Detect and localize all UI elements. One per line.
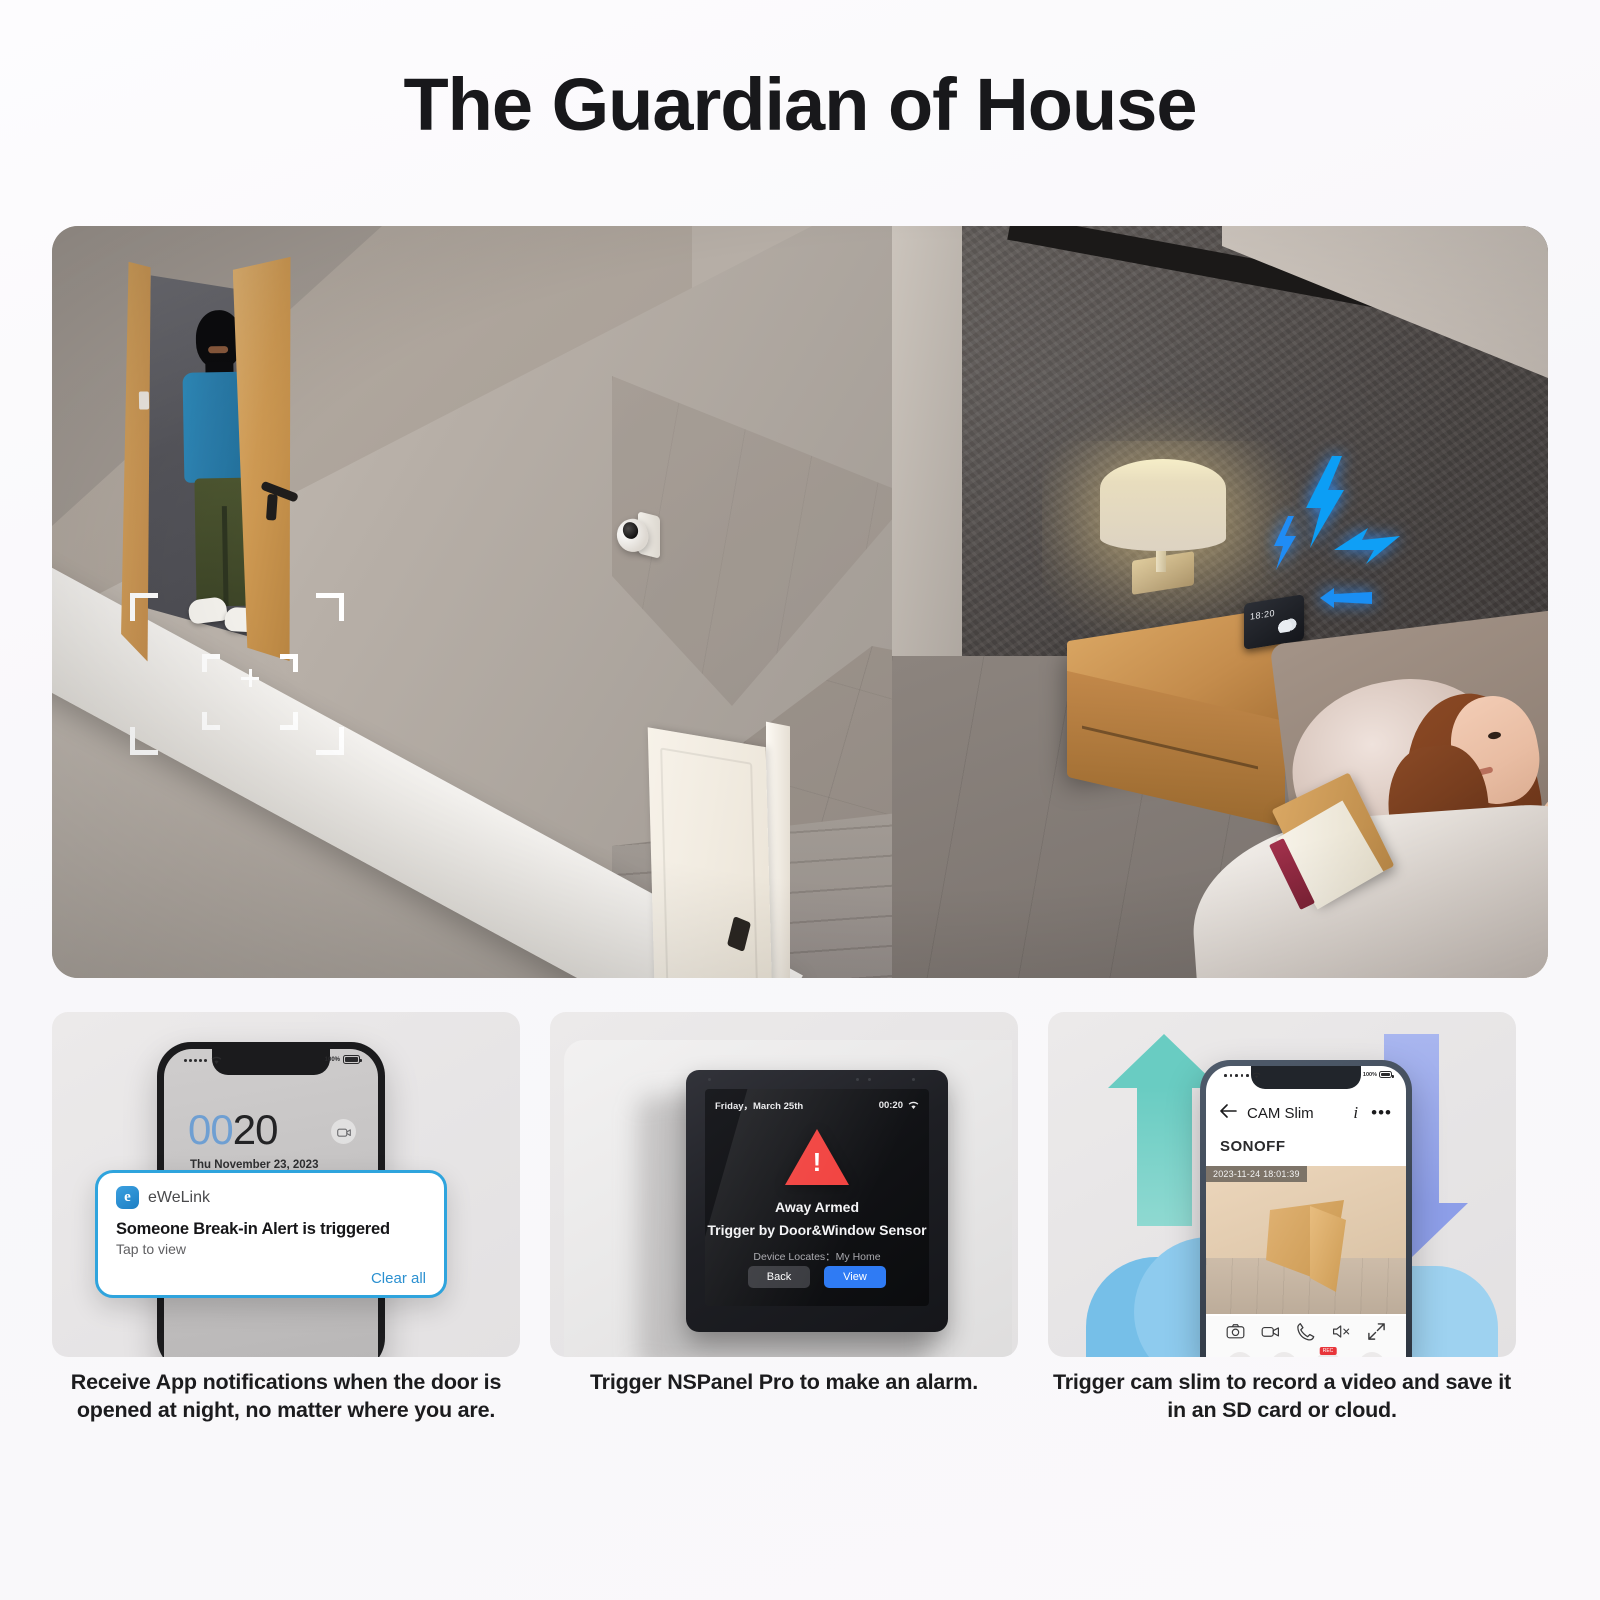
notification-app-name: eWeLink	[148, 1189, 210, 1207]
playback-history-icon[interactable]	[1271, 1352, 1297, 1357]
door-hinge-top	[139, 391, 149, 409]
camera-icon[interactable]	[331, 1119, 356, 1144]
detection-crosshair-icon	[241, 669, 259, 687]
alert-bolt-right-icon	[1334, 526, 1400, 566]
battery-icon	[343, 1055, 360, 1064]
status-bar-left	[1224, 1072, 1261, 1079]
battery-percent-label: 100%	[325, 1057, 340, 1063]
inner-bracket-top-left-icon	[202, 654, 220, 672]
interior-white-door	[648, 727, 775, 978]
notification-title: Someone Break-in Alert is triggered	[116, 1220, 426, 1239]
video-record-icon[interactable]	[1261, 1322, 1280, 1346]
app-navigation-bar: CAM Slim i •••	[1206, 1096, 1406, 1130]
nspanel-screen: Friday，March 25th 00:20 ! Away Armed	[705, 1089, 929, 1306]
lamp-shade	[1100, 459, 1226, 551]
rec-badge: REC	[1320, 1347, 1337, 1355]
info-icon[interactable]: i	[1353, 1103, 1358, 1123]
inner-bracket-bottom-right-icon	[280, 712, 298, 730]
caption-cam-slim: Trigger cam slim to record a video and s…	[1048, 1368, 1516, 1425]
wifi-icon	[211, 1056, 222, 1065]
inner-bracket-bottom-left-icon	[202, 712, 220, 730]
bracket-top-right-icon	[316, 593, 344, 621]
call-icon[interactable]	[1359, 1352, 1385, 1357]
page-title: The Guardian of House	[0, 62, 1600, 147]
caption-nspanel-alarm: Trigger NSPanel Pro to make an alarm.	[550, 1368, 1018, 1425]
status-bar-right: 100%	[1363, 1071, 1392, 1078]
nav-right-actions: i •••	[1353, 1103, 1392, 1123]
alert-buttons: Back View	[705, 1266, 929, 1288]
phone-device: 100% CAM Slim i •••	[1200, 1060, 1412, 1357]
video-timestamp: 2023-11-24 18:01:39	[1206, 1166, 1307, 1182]
panel-cam-slim-recording: 100% CAM Slim i •••	[1048, 1012, 1516, 1357]
caption-app-notification: Receive App notifications when the door …	[52, 1368, 520, 1425]
alert-line-1: Away Armed	[705, 1199, 929, 1215]
status-bar-left	[184, 1056, 222, 1065]
bedroom-scene: 18:20	[892, 226, 1548, 978]
mute-speaker-icon[interactable]	[1332, 1322, 1351, 1346]
panel-app-notification: 100% 0020 Thu November 23, 2023	[52, 1012, 520, 1357]
wifi-icon	[1252, 1072, 1261, 1079]
phone-call-glyph-icon	[1296, 1322, 1315, 1341]
wall-panel-weather-icon	[1278, 617, 1298, 633]
camera-snapshot-glyph-icon	[1226, 1322, 1245, 1341]
feature-panels: 100% 0020 Thu November 23, 2023	[52, 1012, 1548, 1357]
bracket-top-left-icon	[130, 593, 158, 621]
door-handle-lever	[266, 494, 278, 521]
sensor-dot-right-icon	[912, 1078, 915, 1081]
hd-quality-icon[interactable]	[1227, 1352, 1253, 1357]
camera-secondary-controls-row: REC	[1206, 1350, 1406, 1357]
status-bar-right: 100%	[325, 1055, 360, 1064]
signal-dots-icon	[184, 1059, 207, 1062]
fullscreen-expand-icon[interactable]	[1367, 1322, 1386, 1346]
view-button[interactable]: View	[824, 1266, 886, 1288]
cam-slim-app-screen: 100% CAM Slim i •••	[1206, 1066, 1406, 1357]
more-dots-icon[interactable]: •••	[1371, 1108, 1392, 1118]
back-arrow-glyph-icon	[1220, 1104, 1237, 1118]
video-record-glyph-icon	[1261, 1322, 1280, 1341]
sensor-dot-left-icon	[708, 1078, 711, 1081]
phone-call-icon[interactable]	[1296, 1322, 1315, 1346]
phone-notch	[212, 1049, 330, 1075]
wall-panel-time: 18:20	[1250, 608, 1275, 622]
bracket-bottom-right-icon	[316, 727, 344, 755]
app-page-title: CAM Slim	[1247, 1105, 1314, 1122]
back-arrow-icon[interactable]	[1220, 1104, 1237, 1123]
detection-frame-inner	[202, 654, 298, 730]
ewelink-app-icon: e	[116, 1186, 139, 1209]
product-feature-page: The Guardian of House	[0, 0, 1600, 1600]
battery-percent-label: 100%	[1363, 1072, 1377, 1078]
clear-all-button[interactable]: Clear all	[371, 1270, 426, 1287]
camera-live-video[interactable]: 2023-11-24 18:01:39	[1206, 1166, 1406, 1314]
mute-speaker-glyph-icon	[1332, 1322, 1351, 1341]
record-icon[interactable]: REC	[1315, 1352, 1341, 1357]
upload-arrow-stem	[1137, 1086, 1192, 1226]
panel-captions: Receive App notifications when the door …	[52, 1368, 1548, 1425]
alert-line-2: Trigger by Door&Window Sensor	[705, 1222, 929, 1238]
fullscreen-expand-glyph-icon	[1367, 1322, 1386, 1341]
sonoff-brand-logo: SONOFF	[1220, 1138, 1286, 1155]
notification-app-row: e eWeLink	[116, 1186, 426, 1209]
camera-glyph-icon	[337, 1125, 351, 1139]
clock-minutes: 20	[233, 1106, 278, 1153]
inner-bracket-top-right-icon	[280, 654, 298, 672]
panel-nspanel-alarm: Friday，March 25th 00:20 ! Away Armed	[550, 1012, 1018, 1357]
clock-hours: 00	[188, 1106, 233, 1153]
sensor-dot-mid-icon	[856, 1078, 859, 1081]
bracket-bottom-left-icon	[130, 727, 158, 755]
nspanel-pro-device: Friday，March 25th 00:20 ! Away Armed	[686, 1070, 948, 1332]
phone-notch	[1251, 1066, 1361, 1089]
battery-icon	[1379, 1071, 1392, 1078]
notification-subtitle: Tap to view	[116, 1241, 426, 1257]
camera-controls-row	[1206, 1316, 1406, 1352]
alert-content: ! Away Armed Trigger by Door&Window Sens…	[705, 1089, 929, 1306]
alert-bolt-small-icon	[1272, 516, 1298, 570]
hero-scene-image: 18:20	[52, 226, 1548, 978]
camera-snapshot-icon[interactable]	[1226, 1322, 1245, 1346]
back-button[interactable]: Back	[748, 1266, 810, 1288]
warning-exclamation-glyph: !	[813, 1149, 822, 1175]
sensor-dot-mid2-icon	[868, 1078, 871, 1081]
alert-bolt-arrow-icon	[1320, 588, 1372, 608]
lockscreen-clock: 0020	[188, 1109, 277, 1151]
intruder-mouth	[208, 346, 228, 353]
notification-card[interactable]: e eWeLink Someone Break-in Alert is trig…	[95, 1170, 447, 1298]
alert-device-location: Device Locates：My Home	[705, 1249, 929, 1264]
